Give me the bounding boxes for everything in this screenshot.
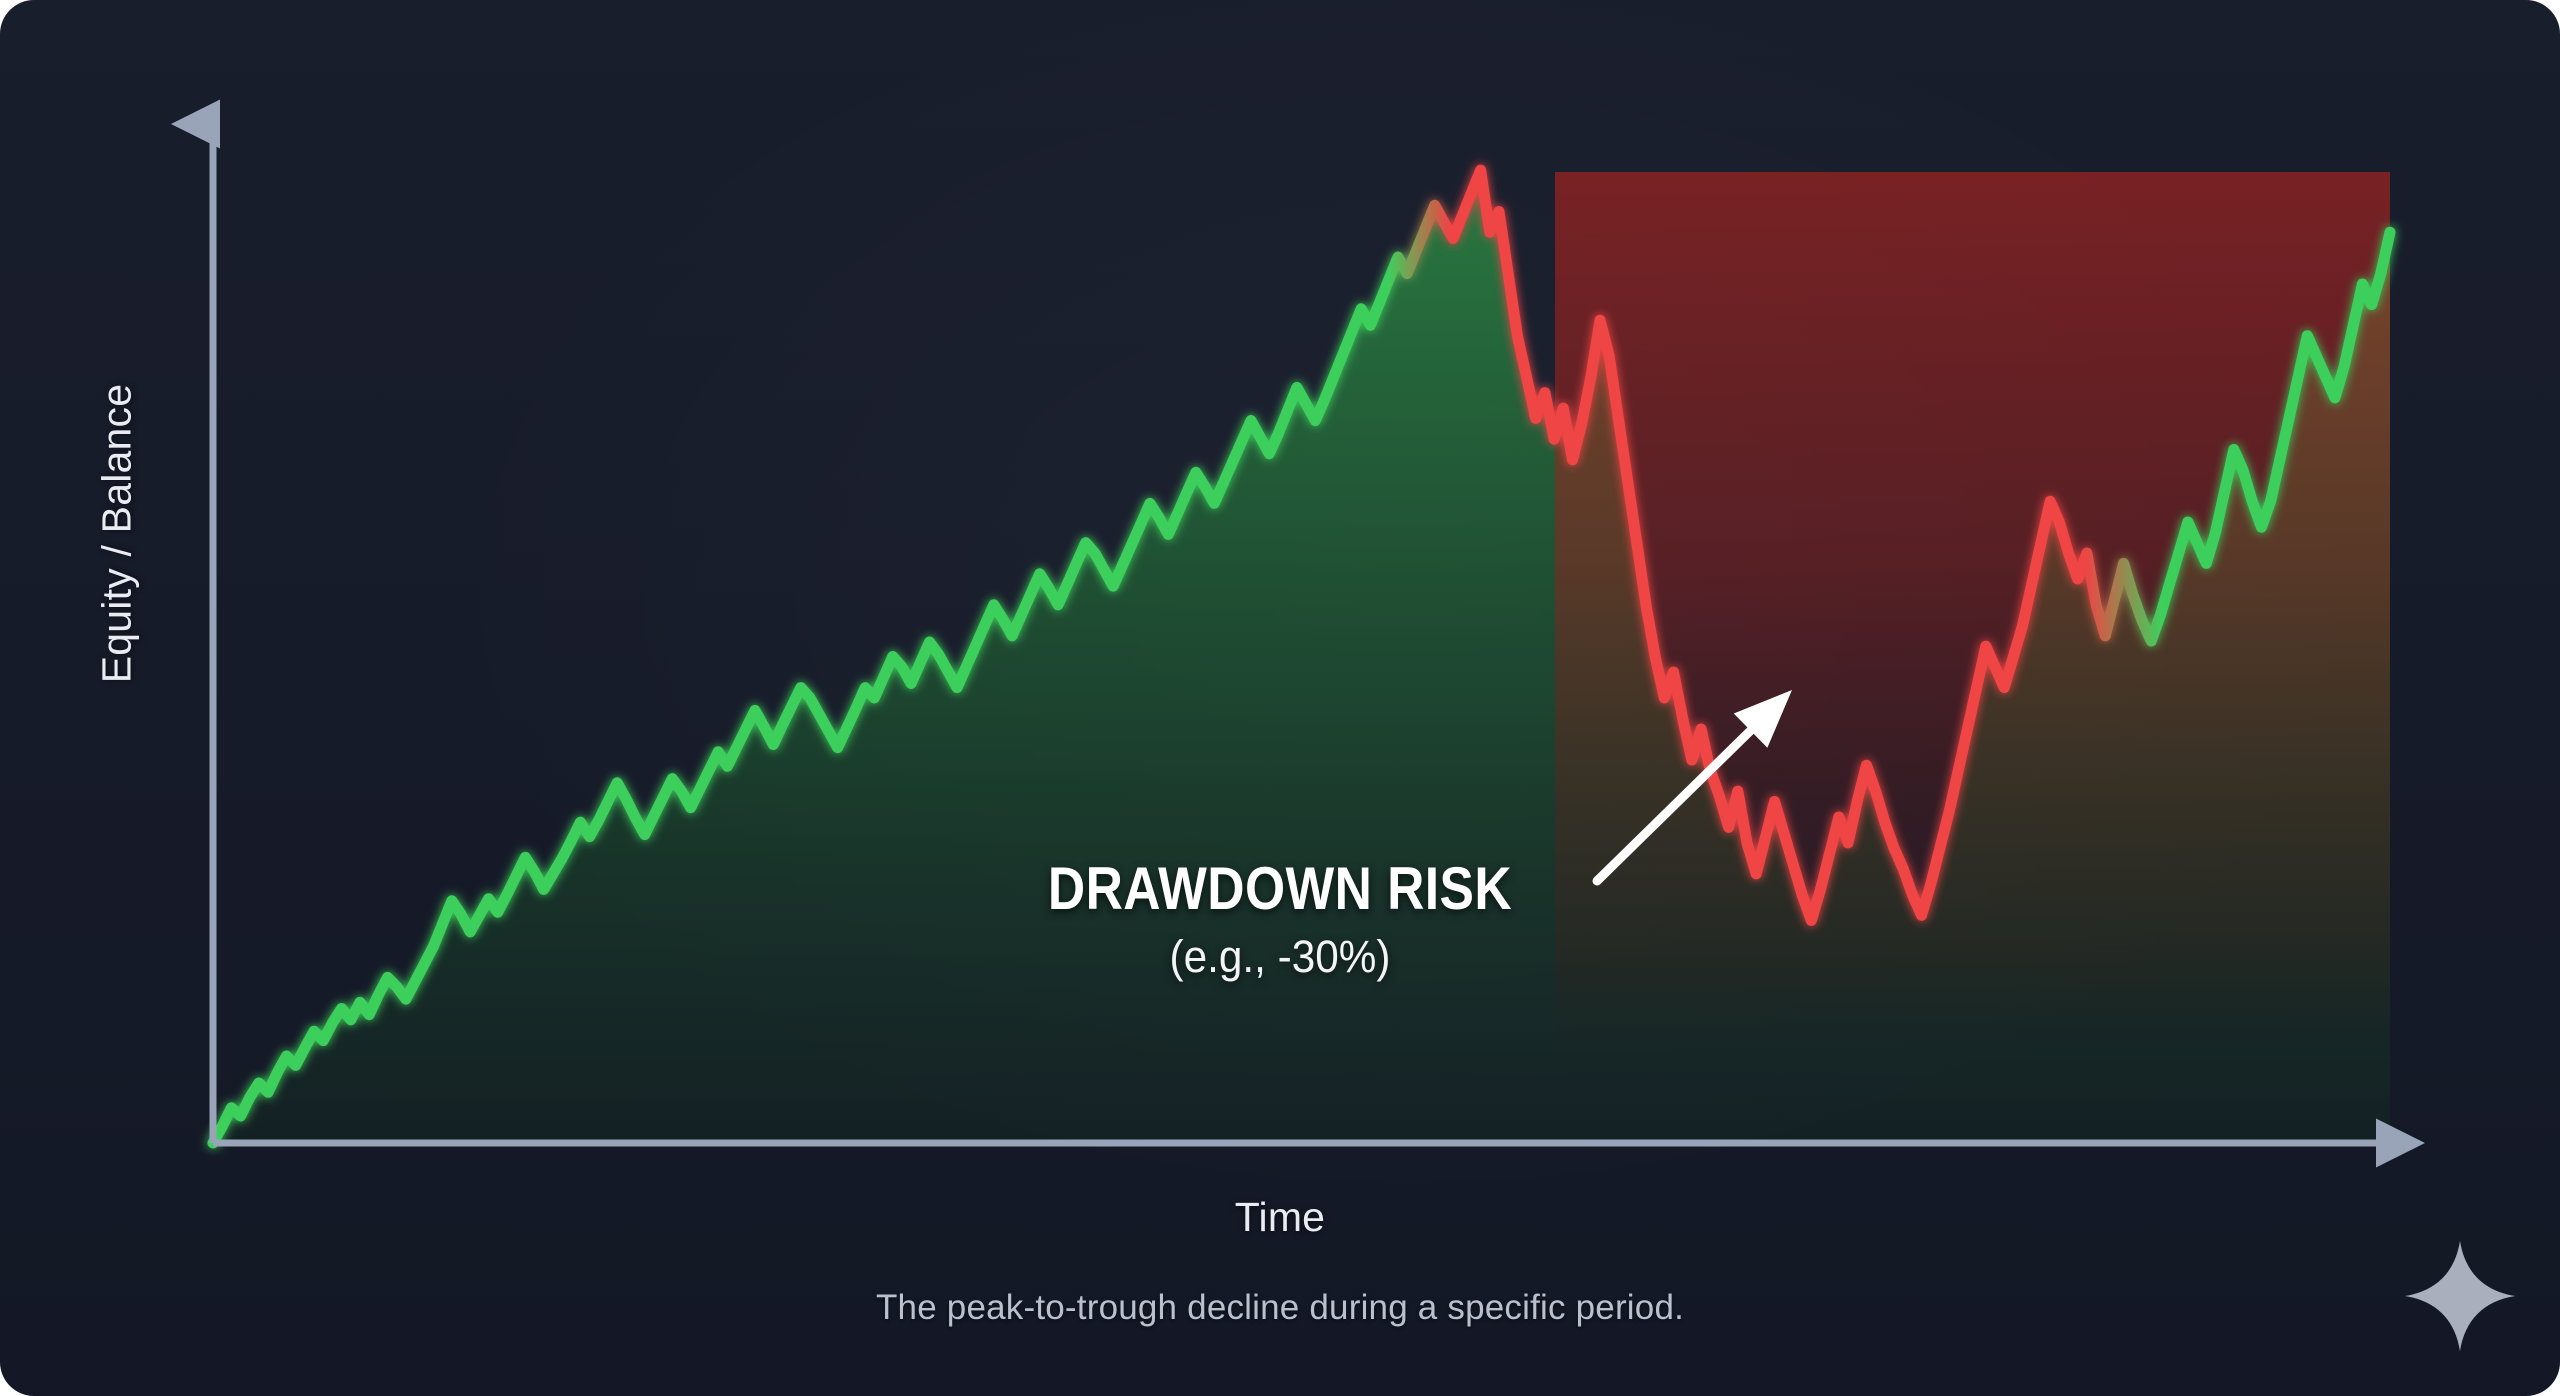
equity-chart-svg (0, 0, 2560, 1396)
drawdown-overlay-region (1555, 172, 2390, 1052)
chart-caption: The peak-to-trough decline during a spec… (0, 1288, 2560, 1328)
y-axis-label: Equity / Balance (94, 384, 141, 684)
sparkle-icon (2400, 1236, 2520, 1356)
x-axis-label: Time (0, 1194, 2560, 1241)
chart-card: Equity / Balance Time DRAWDOWN RISK (e.g… (0, 0, 2560, 1396)
